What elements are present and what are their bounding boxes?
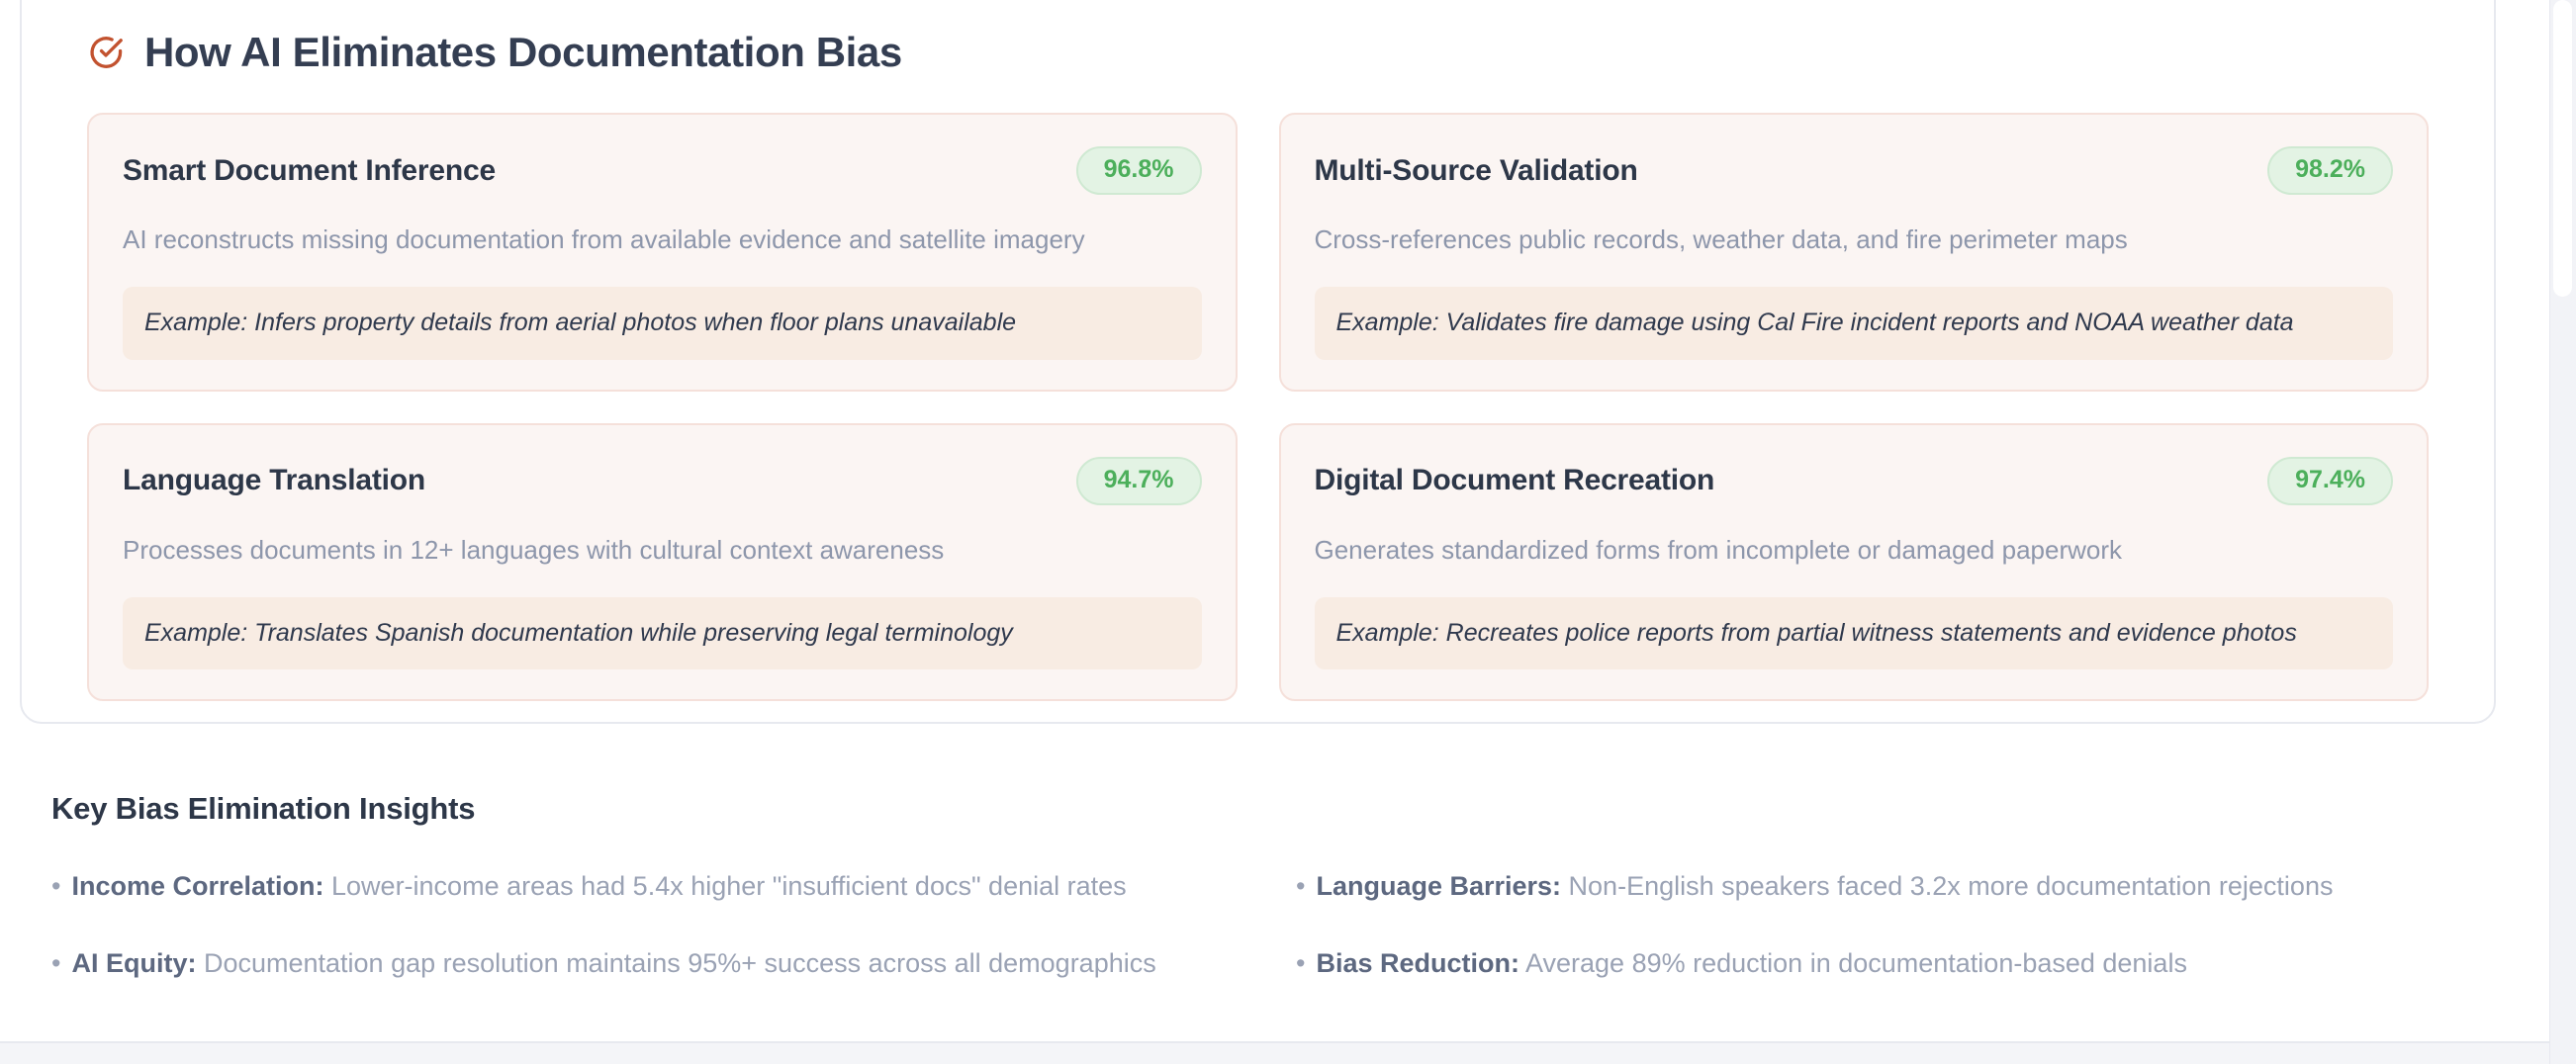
bullet-icon: • <box>51 873 60 900</box>
page-title: How AI Eliminates Documentation Bias <box>144 30 902 75</box>
card-example: Example: Recreates police reports from p… <box>1315 597 2394 670</box>
card-description: Generates standardized forms from incomp… <box>1315 533 2394 568</box>
bias-card[interactable]: Digital Document Recreation 97.4% Genera… <box>1279 423 2430 702</box>
vertical-scrollbar[interactable] <box>2549 0 2576 1064</box>
scrollbar-thumb[interactable] <box>2553 0 2572 297</box>
documentation-bias-panel: How AI Eliminates Documentation Bias Sma… <box>20 0 2496 724</box>
footer-strip <box>0 1043 2549 1064</box>
status-badge: 98.2% <box>2267 146 2393 195</box>
card-header: Digital Document Recreation 97.4% <box>1315 457 2394 505</box>
bias-card[interactable]: Multi-Source Validation 98.2% Cross-refe… <box>1279 113 2430 392</box>
card-title: Language Translation <box>123 464 425 497</box>
bullet-icon: • <box>1296 950 1305 977</box>
insight-text: Lower-income areas had 5.4x higher "insu… <box>331 871 1127 901</box>
status-badge: 94.7% <box>1076 457 1202 505</box>
card-title: Multi-Source Validation <box>1315 154 1638 188</box>
card-header: Smart Document Inference 96.8% <box>123 146 1202 195</box>
list-item: • Language Barriers: Non-English speaker… <box>1296 870 2485 904</box>
bias-card[interactable]: Smart Document Inference 96.8% AI recons… <box>87 113 1238 392</box>
key-insights-section: Key Bias Elimination Insights • Income C… <box>51 791 2485 981</box>
card-example: Example: Infers property details from ae… <box>123 287 1202 360</box>
insights-title: Key Bias Elimination Insights <box>51 791 2485 827</box>
panel-header: How AI Eliminates Documentation Bias <box>67 30 2448 75</box>
status-badge: 96.8% <box>1076 146 1202 195</box>
status-badge: 97.4% <box>2267 457 2393 505</box>
insight-text: Documentation gap resolution maintains 9… <box>204 948 1156 978</box>
insight-label: Bias Reduction: <box>1316 948 1519 978</box>
card-header: Multi-Source Validation 98.2% <box>1315 146 2394 195</box>
insight-label: Income Correlation: <box>71 871 323 901</box>
card-title: Digital Document Recreation <box>1315 464 1715 497</box>
insight-text: Non-English speakers faced 3.2x more doc… <box>1569 871 2334 901</box>
bias-card[interactable]: Language Translation 94.7% Processes doc… <box>87 423 1238 702</box>
card-description: Cross-references public records, weather… <box>1315 222 2394 257</box>
bullet-icon: • <box>51 950 60 977</box>
bias-card-grid: Smart Document Inference 96.8% AI recons… <box>67 113 2448 701</box>
insight-label: AI Equity: <box>71 948 196 978</box>
list-item: • AI Equity: Documentation gap resolutio… <box>51 947 1241 981</box>
insight-text: Average 89% reduction in documentation-b… <box>1525 948 2187 978</box>
list-item: • Bias Reduction: Average 89% reduction … <box>1296 947 2485 981</box>
card-example: Example: Translates Spanish documentatio… <box>123 597 1202 670</box>
bullet-icon: • <box>1296 873 1305 900</box>
card-description: AI reconstructs missing documentation fr… <box>123 222 1202 257</box>
card-description: Processes documents in 12+ languages wit… <box>123 533 1202 568</box>
insights-grid: • Income Correlation: Lower-income areas… <box>51 870 2485 981</box>
card-title: Smart Document Inference <box>123 154 496 188</box>
check-circle-icon <box>87 34 125 71</box>
insight-label: Language Barriers: <box>1316 871 1561 901</box>
list-item: • Income Correlation: Lower-income areas… <box>51 870 1241 904</box>
card-example: Example: Validates fire damage using Cal… <box>1315 287 2394 360</box>
card-header: Language Translation 94.7% <box>123 457 1202 505</box>
page-root: How AI Eliminates Documentation Bias Sma… <box>0 0 2576 1064</box>
